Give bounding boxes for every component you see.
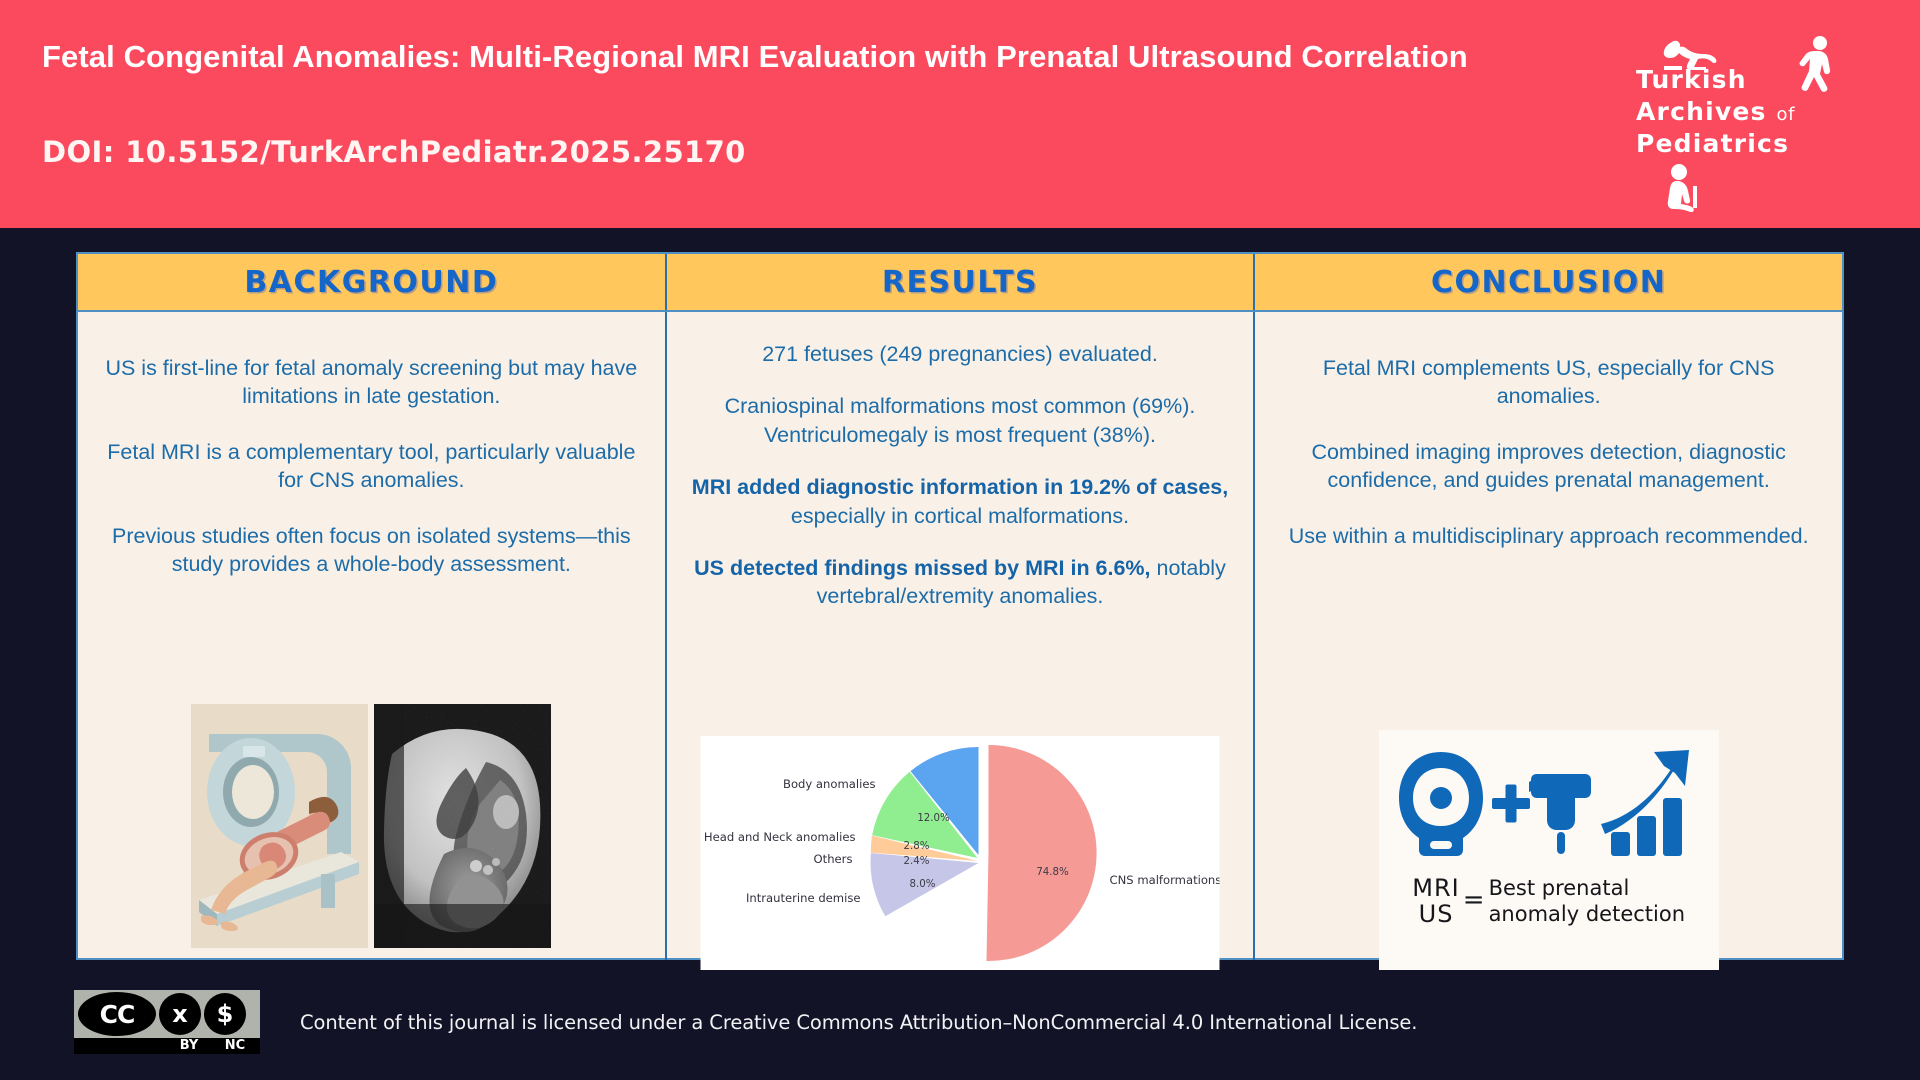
logo-line-2: Archives of (1636, 96, 1866, 128)
cc-by-icon: x (159, 993, 201, 1035)
sitting-child-icon (1662, 164, 1702, 212)
background-paragraph-1: US is first-line for fetal anomaly scree… (96, 354, 647, 411)
conclusion-icons-svg (1379, 746, 1719, 866)
column-heading-background: BACKGROUND (78, 254, 665, 310)
results-paragraph-3: MRI added diagnostic information in 19.2… (685, 473, 1236, 530)
poster-header: Fetal Congenital Anomalies: Multi-Region… (0, 0, 1920, 232)
pie-label-others: Others (814, 852, 853, 866)
conclusion-icon-card: MRI US = Best prenatal anomaly detection (1379, 730, 1719, 970)
columns-container: US is first-line for fetal anomaly scree… (78, 312, 1842, 960)
logo-line-1: Turkish (1636, 64, 1866, 96)
cc-nc-label: NC (212, 1038, 258, 1054)
mri-machine-icon (1399, 752, 1483, 856)
background-figures (191, 704, 551, 948)
anomaly-distribution-pie-chart: 12.0% 2.8% 2.4% 8.0% 74.8% Body anomalie… (701, 736, 1220, 970)
cc-logo-icon: CC (78, 992, 156, 1036)
column-headings: BACKGROUND RESULTS CONCLUSION (78, 254, 1842, 312)
page-title: Fetal Congenital Anomalies: Multi-Region… (42, 38, 1602, 75)
journal-logo: Turkish Archives of Pediatrics (1628, 18, 1874, 210)
poster-footer: CC x $ BY NC Content of this journal is … (0, 978, 1920, 1080)
pie-value-body-anomalies: 12.0% (917, 813, 950, 824)
results-paragraph-4: US detected findings missed by MRI in 6.… (685, 554, 1236, 611)
background-text-body: US is first-line for fetal anomaly scree… (96, 312, 647, 578)
pie-label-cns-malformations: CNS malformations (1110, 873, 1220, 887)
background-paragraph-3: Previous studies often focus on isolated… (96, 522, 647, 579)
column-heading-conclusion: CONCLUSION (1253, 254, 1842, 310)
license-text: Content of this journal is licensed unde… (300, 1011, 1417, 1034)
mri-scanner-illustration (191, 704, 368, 948)
pie-value-head-neck-anomalies: 2.8% (904, 841, 930, 852)
fraction-numerator: MRI (1412, 876, 1459, 901)
pie-value-cns-malformations: 74.8% (1036, 867, 1069, 878)
column-conclusion: Fetal MRI complements US, especially for… (1253, 312, 1842, 960)
cc-by-label: BY (166, 1038, 212, 1054)
logo-of-text: of (1777, 104, 1796, 125)
pie-label-body-anomalies: Body anomalies (783, 777, 876, 791)
conclusion-paragraph-2: Combined imaging improves detection, dia… (1273, 438, 1824, 495)
creative-commons-badge[interactable]: CC x $ BY NC (74, 990, 260, 1054)
conclusion-caption: MRI US = Best prenatal anomaly detection (1379, 876, 1719, 927)
conclusion-paragraph-1: Fetal MRI complements US, especially for… (1273, 354, 1824, 411)
cc-badge-labels: BY NC (74, 1038, 260, 1054)
cc-nc-icon: $ (204, 993, 246, 1035)
fraction-denominator: US (1419, 902, 1454, 927)
conclusion-paragraph-3: Use within a multidisciplinary approach … (1273, 522, 1824, 550)
plus-icon (1492, 785, 1530, 823)
column-background: US is first-line for fetal anomaly scree… (78, 312, 665, 960)
results-text-body: 271 fetuses (249 pregnancies) evaluated.… (685, 312, 1236, 611)
growth-chart-icon (1601, 750, 1689, 856)
pie-value-intrauterine-demise: 8.0% (910, 879, 936, 890)
logo-archives-text: Archives (1636, 97, 1767, 126)
pie-chart-svg: 12.0% 2.8% 2.4% 8.0% 74.8% Body anomalie… (701, 736, 1220, 970)
column-results: 271 fetuses (249 pregnancies) evaluated.… (665, 312, 1254, 960)
results-paragraph-2: Craniospinal malformations most common (… (685, 392, 1236, 449)
pie-label-head-neck-anomalies: Head and Neck anomalies (704, 830, 856, 844)
poster-panel: BACKGROUND RESULTS CONCLUSION US is firs… (76, 252, 1844, 960)
pie-value-others: 2.4% (904, 856, 930, 867)
equals-sign: = (1463, 885, 1485, 915)
ultrasound-probe-icon (1529, 774, 1591, 854)
column-heading-results: RESULTS (665, 254, 1254, 310)
cc-spacer (74, 1038, 166, 1054)
fetal-mri-scan (374, 704, 551, 948)
background-paragraph-2: Fetal MRI is a complementary tool, parti… (96, 438, 647, 495)
conclusion-result-line2: anomaly detection (1489, 902, 1685, 928)
cc-badge-icons: CC x $ (74, 990, 260, 1038)
conclusion-text-body: Fetal MRI complements US, especially for… (1273, 312, 1824, 550)
mri-us-fraction: MRI US (1412, 876, 1459, 927)
logo-line-3: Pediatrics (1636, 128, 1866, 160)
conclusion-result-line1: Best prenatal (1489, 876, 1685, 902)
conclusion-result-text: Best prenatal anomaly detection (1489, 876, 1685, 927)
doi-text: DOI: 10.5152/TurkArchPediatr.2025.25170 (42, 135, 746, 169)
results-paragraph-1: 271 fetuses (249 pregnancies) evaluated. (685, 340, 1236, 368)
pie-label-intrauterine-demise: Intrauterine demise (746, 891, 861, 905)
